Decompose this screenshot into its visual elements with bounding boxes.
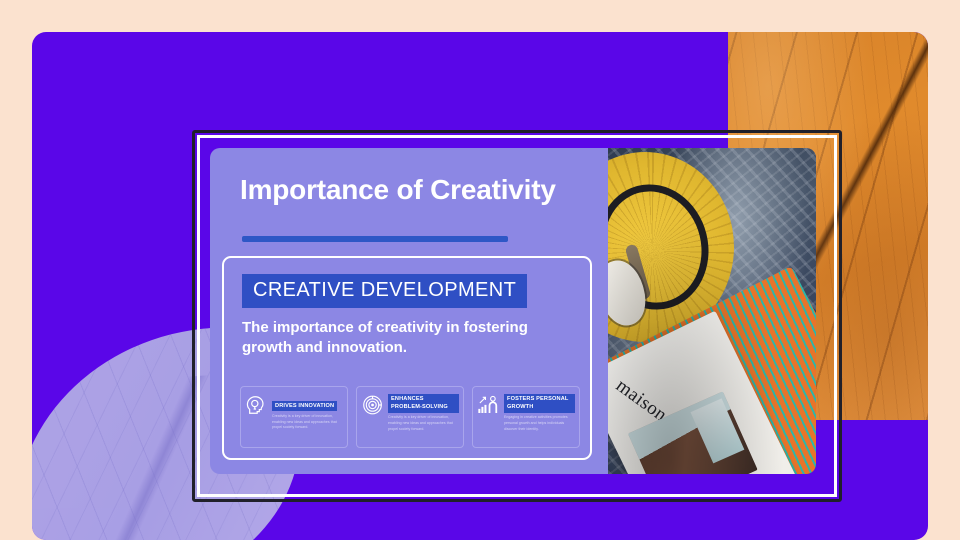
- page-title: Importance of Creativity: [240, 174, 556, 206]
- feature-title: FOSTERS PERSONAL GROWTH: [504, 394, 575, 413]
- feature-description: Creativity is a key driver of innovation…: [388, 415, 459, 432]
- head-lightbulb-icon: [246, 392, 268, 418]
- card-body-text: The importance of creativity in fosterin…: [242, 318, 572, 359]
- feature-card-list: DRIVES INNOVATION Creativity is a key dr…: [240, 386, 580, 448]
- maze-target-icon: [362, 392, 384, 418]
- feature-text-block: ENHANCES PROBLEM-SOLVING Creativity is a…: [388, 392, 459, 432]
- feature-description: Creativity is a key driver of innovation…: [272, 414, 343, 431]
- feature-text-block: DRIVES INNOVATION Creativity is a key dr…: [272, 392, 343, 431]
- purple-slide-background: Importance of Creativity CREATIVE DEVELO…: [32, 32, 928, 540]
- photo-vignette: [608, 148, 816, 474]
- feature-title: ENHANCES PROBLEM-SOLVING: [388, 394, 459, 413]
- feature-card-drives-innovation[interactable]: DRIVES INNOVATION Creativity is a key dr…: [240, 386, 348, 448]
- feature-description: Engaging in creative activities promotes…: [504, 415, 575, 432]
- slide-canvas: Importance of Creativity CREATIVE DEVELO…: [0, 0, 960, 540]
- creative-development-card: CREATIVE DEVELOPMENT The importance of c…: [222, 256, 592, 460]
- feature-text-block: FOSTERS PERSONAL GROWTH Engaging in crea…: [504, 392, 575, 432]
- panel-left-column: Importance of Creativity CREATIVE DEVELO…: [210, 148, 608, 474]
- flat-lay-photo: maison: [608, 148, 816, 474]
- card-heading-chip: CREATIVE DEVELOPMENT: [242, 274, 527, 308]
- feature-card-enhances-problem-solving[interactable]: ENHANCES PROBLEM-SOLVING Creativity is a…: [356, 386, 464, 448]
- content-panel: Importance of Creativity CREATIVE DEVELO…: [210, 148, 816, 474]
- feature-title: DRIVES INNOVATION: [272, 401, 337, 411]
- title-divider: [242, 236, 508, 242]
- feature-card-fosters-personal-growth[interactable]: FOSTERS PERSONAL GROWTH Engaging in crea…: [472, 386, 580, 448]
- growth-chart-person-icon: [478, 392, 500, 418]
